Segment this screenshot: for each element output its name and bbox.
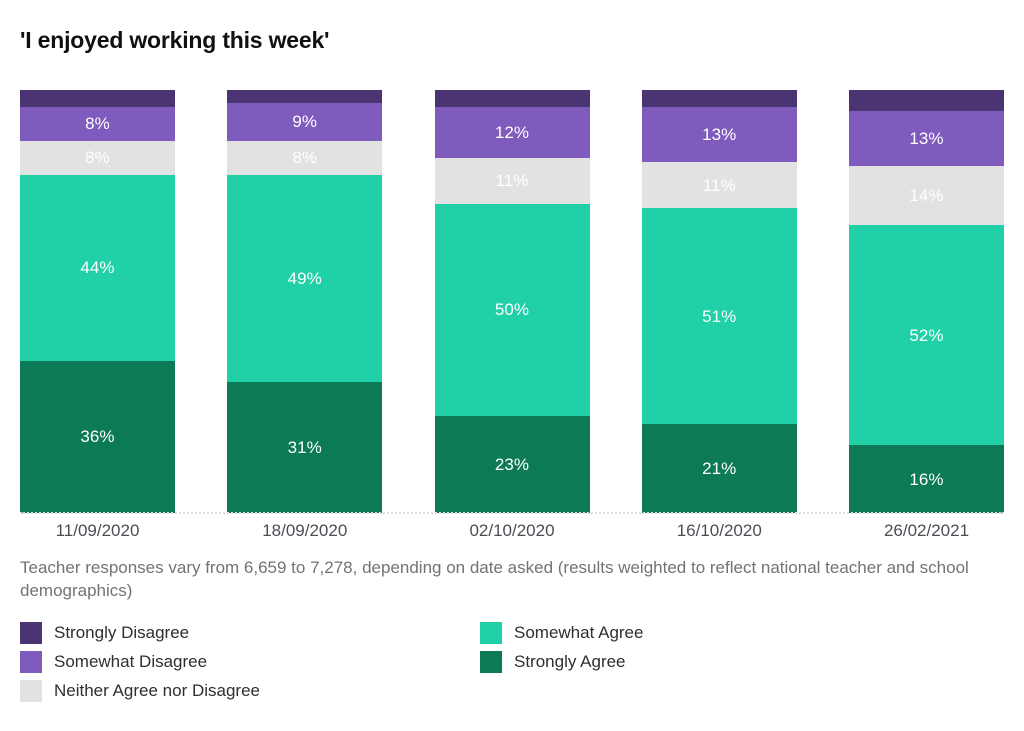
legend-column-left: Strongly DisagreeSomewhat DisagreeNeithe…	[20, 618, 260, 705]
bar-segment-label: 14%	[909, 187, 943, 204]
bar-segment[interactable]: 8%	[20, 107, 175, 141]
bar-stack[interactable]: 9%8%49%31%	[227, 90, 382, 513]
legend-swatch-icon	[480, 622, 502, 644]
bar-segment-label: 8%	[85, 115, 110, 132]
bar-segment[interactable]	[227, 90, 382, 103]
x-axis-tick-label: 02/10/2020	[435, 521, 590, 541]
bar-segment-label: 21%	[702, 460, 736, 477]
bar-segment[interactable]: 13%	[642, 107, 797, 162]
bar-segment-label: 31%	[288, 439, 322, 456]
bar-segment[interactable]: 11%	[435, 158, 590, 205]
legend-swatch-icon	[20, 680, 42, 702]
bar-segment[interactable]: 36%	[20, 361, 175, 513]
bar-segment[interactable]: 12%	[435, 107, 590, 158]
bar-segment-label: 13%	[909, 130, 943, 147]
chart-footnote: Teacher responses vary from 6,659 to 7,2…	[20, 557, 1002, 603]
bar-stack[interactable]: 8%8%44%36%	[20, 90, 175, 513]
bar-segment[interactable]: 50%	[435, 204, 590, 416]
chart-legend: Strongly DisagreeSomewhat DisagreeNeithe…	[20, 618, 980, 714]
bar-segment[interactable]: 44%	[20, 175, 175, 361]
bar-segment[interactable]: 8%	[20, 141, 175, 175]
bar-stack[interactable]: 13%11%51%21%	[642, 90, 797, 513]
bar-segment-label: 12%	[495, 124, 529, 141]
bar-segment[interactable]: 23%	[435, 416, 590, 513]
legend-item[interactable]: Somewhat Agree	[480, 618, 643, 647]
bar-stack[interactable]: 12%11%50%23%	[435, 90, 590, 513]
bar-segment-label: 8%	[85, 149, 110, 166]
bar-segment[interactable]	[20, 90, 175, 107]
bar-segment[interactable]: 49%	[227, 175, 382, 382]
legend-swatch-icon	[20, 622, 42, 644]
plot-area: 8%8%44%36%9%8%49%31%12%11%50%23%13%11%51…	[20, 90, 1004, 513]
legend-item[interactable]: Strongly Disagree	[20, 618, 260, 647]
bar-segment[interactable]	[642, 90, 797, 107]
bar-segment[interactable]: 14%	[849, 166, 1004, 225]
legend-item-label: Somewhat Disagree	[54, 652, 207, 672]
bar-segment[interactable]: 16%	[849, 445, 1004, 513]
bar-segment-label: 23%	[495, 456, 529, 473]
bar-segment-label: 44%	[80, 259, 114, 276]
bar-segment[interactable]: 51%	[642, 208, 797, 424]
legend-swatch-icon	[20, 651, 42, 673]
bar-segment-label: 9%	[292, 113, 317, 130]
axis-baseline	[20, 512, 1004, 514]
bar-segment[interactable]: 9%	[227, 103, 382, 141]
bar-segment-label: 51%	[702, 308, 736, 325]
legend-item[interactable]: Somewhat Disagree	[20, 647, 260, 676]
bar-segment[interactable]: 13%	[849, 111, 1004, 166]
bar-segment-label: 8%	[292, 149, 317, 166]
legend-swatch-icon	[480, 651, 502, 673]
bar-segment[interactable]	[849, 90, 1004, 111]
x-axis-tick-label: 11/09/2020	[20, 521, 175, 541]
bar-segment[interactable]	[435, 90, 590, 107]
bar-segment-label: 16%	[909, 471, 943, 488]
x-axis-tick-label: 26/02/2021	[849, 521, 1004, 541]
bar-segment-label: 49%	[288, 270, 322, 287]
page-title: 'I enjoyed working this week'	[20, 27, 329, 54]
legend-item-label: Somewhat Agree	[514, 623, 643, 643]
chart-page: 'I enjoyed working this week' 8%8%44%36%…	[0, 0, 1024, 731]
x-axis-tick-label: 16/10/2020	[642, 521, 797, 541]
bar-segment[interactable]: 31%	[227, 382, 382, 513]
legend-item[interactable]: Strongly Agree	[480, 647, 643, 676]
legend-column-right: Somewhat AgreeStrongly Agree	[480, 618, 643, 676]
x-axis-labels: 11/09/202018/09/202002/10/202016/10/2020…	[20, 521, 1004, 541]
bar-segment[interactable]: 52%	[849, 225, 1004, 445]
legend-item-label: Neither Agree nor Disagree	[54, 681, 260, 701]
legend-item[interactable]: Neither Agree nor Disagree	[20, 676, 260, 705]
bar-stack[interactable]: 13%14%52%16%	[849, 90, 1004, 513]
legend-item-label: Strongly Disagree	[54, 623, 189, 643]
bar-segment[interactable]: 11%	[642, 162, 797, 209]
bar-segment-label: 11%	[703, 177, 736, 194]
legend-item-label: Strongly Agree	[514, 652, 626, 672]
bar-segment-label: 13%	[702, 126, 736, 143]
bar-segment-label: 36%	[80, 428, 114, 445]
x-axis-tick-label: 18/09/2020	[227, 521, 382, 541]
bar-segment-label: 11%	[495, 172, 528, 189]
bar-segment[interactable]: 21%	[642, 424, 797, 513]
bar-segment-label: 52%	[909, 327, 943, 344]
bar-segment[interactable]: 8%	[227, 141, 382, 175]
bar-segment-label: 50%	[495, 301, 529, 318]
